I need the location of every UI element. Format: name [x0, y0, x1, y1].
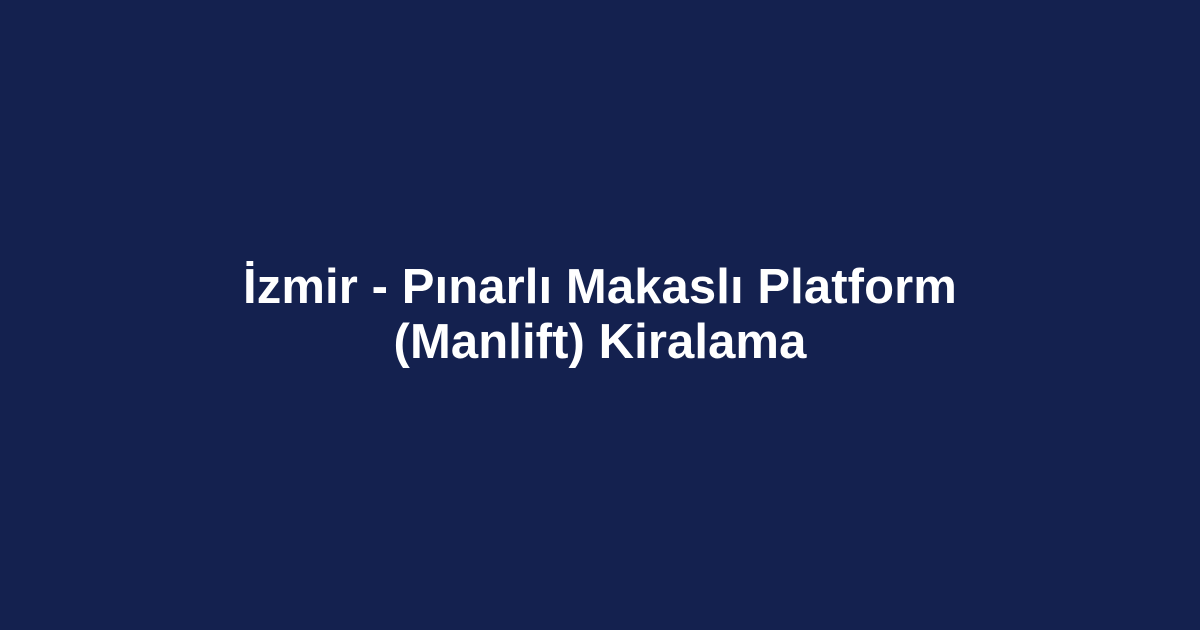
page-title: İzmir - Pınarlı Makaslı Platform (Manlif…	[200, 260, 1000, 370]
og-share-card: İzmir - Pınarlı Makaslı Platform (Manlif…	[0, 0, 1200, 630]
